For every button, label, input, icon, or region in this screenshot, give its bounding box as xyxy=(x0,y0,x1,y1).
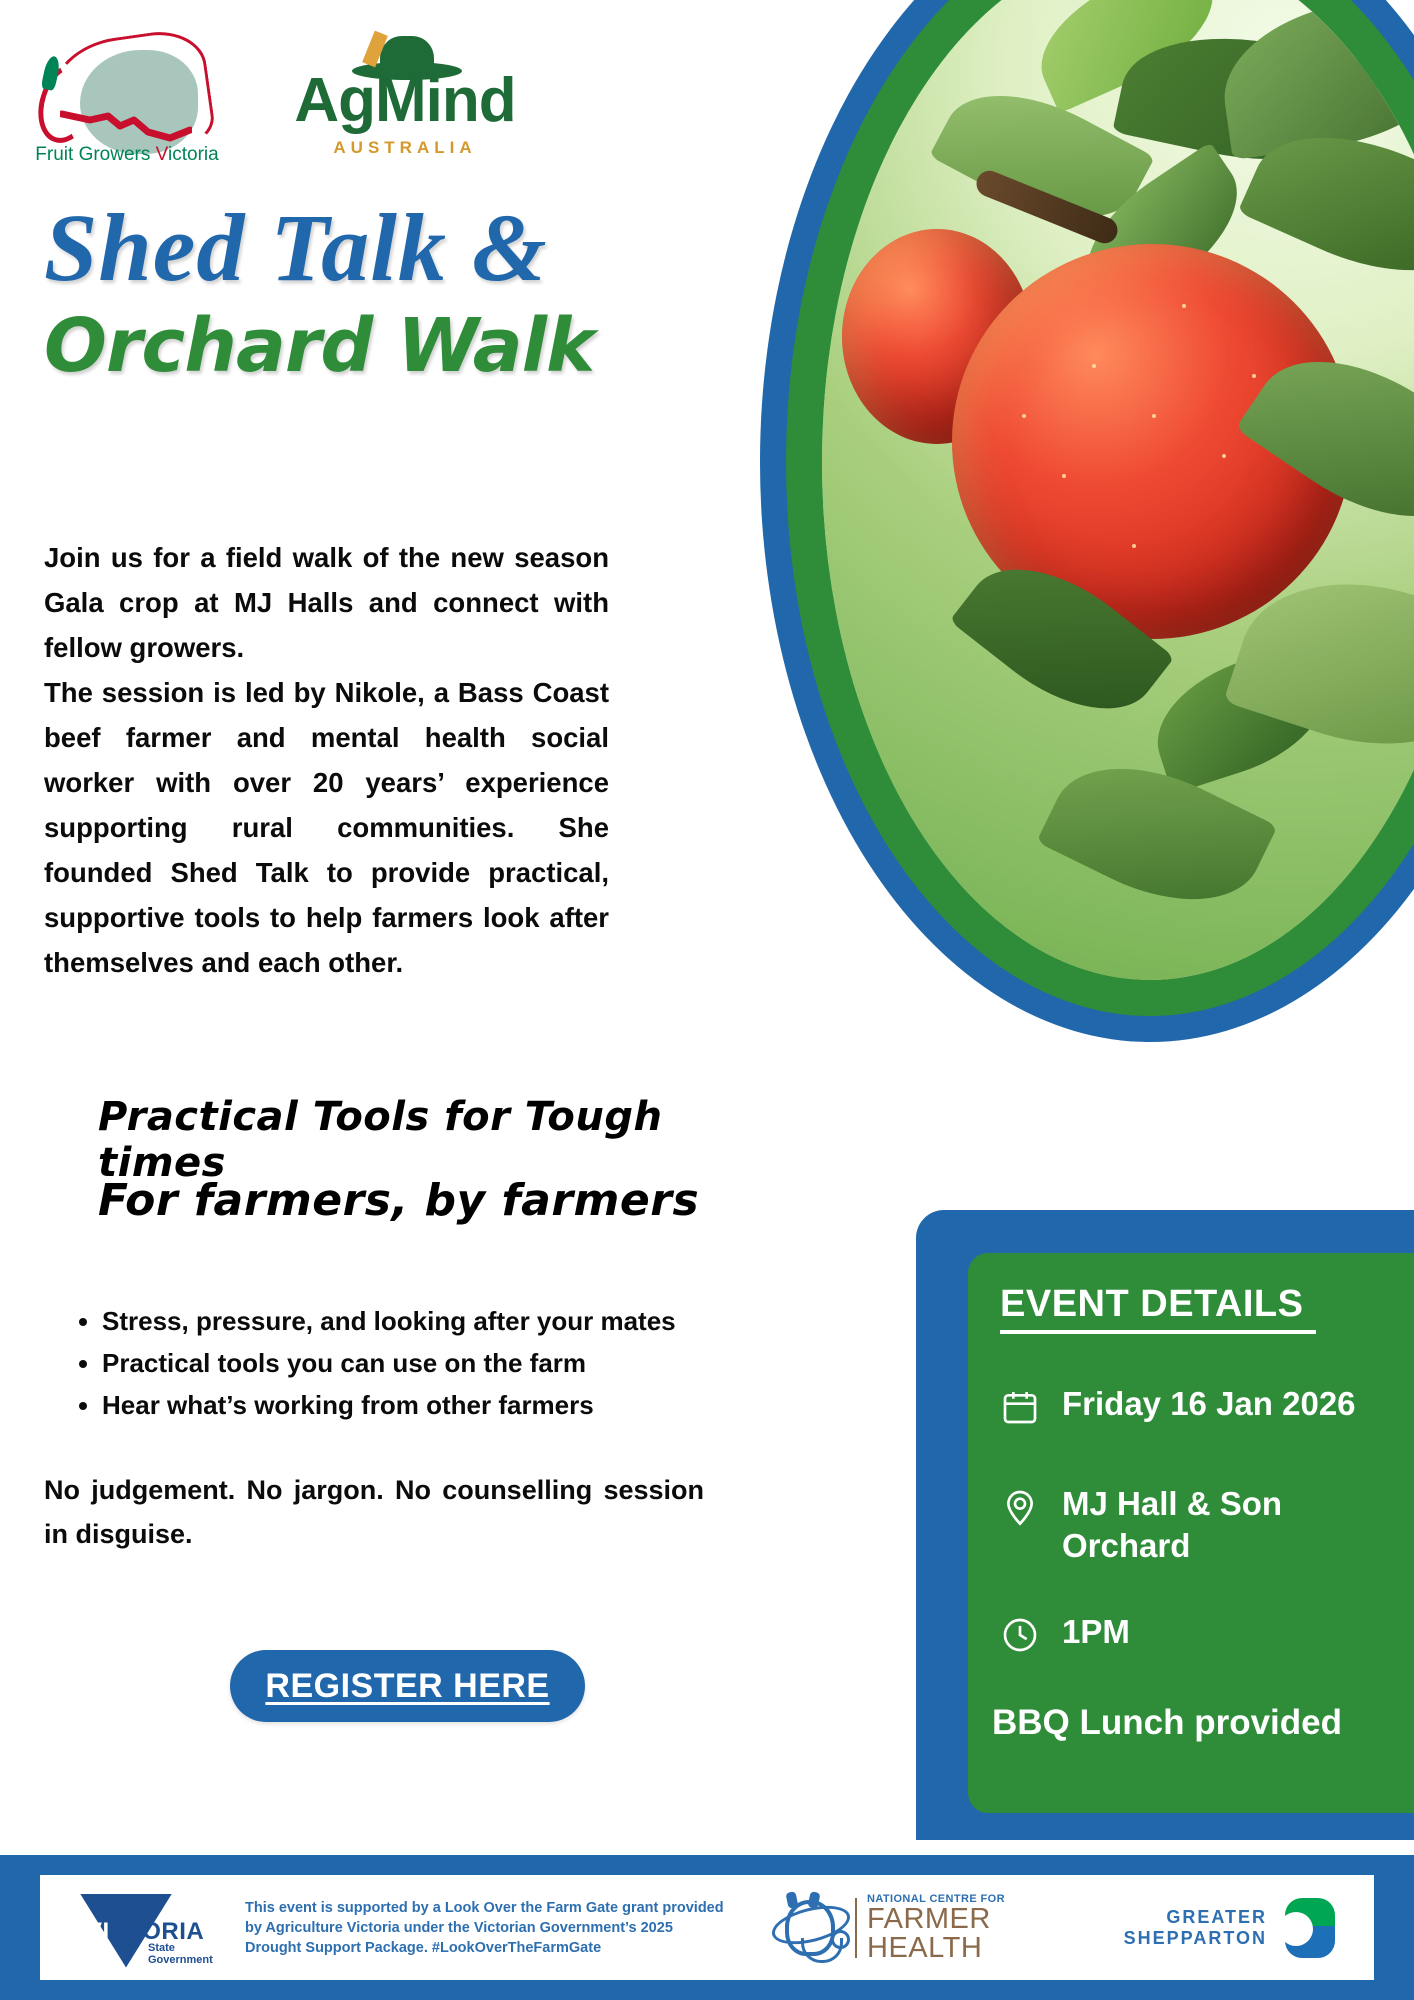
page-title-line2: Orchard Walk xyxy=(44,300,704,392)
stethoscope-bell-icon xyxy=(831,1930,850,1949)
script-heading-2: For farmers, by farmers xyxy=(98,1175,738,1227)
greater-shepparton-logo: GREATER SHEPPARTON xyxy=(1071,1892,1341,1964)
gs-line2: SHEPPARTON xyxy=(1071,1928,1267,1949)
event-time-row: 1PM xyxy=(1000,1611,1130,1655)
register-button-label: REGISTER HERE xyxy=(265,1667,549,1706)
gs-line1: GREATER xyxy=(1071,1907,1267,1928)
victoria-wordmark-text: CTORIA xyxy=(110,1918,205,1945)
event-details-panel: EVENT DETAILS Friday 16 Jan 2026 MJ Hall xyxy=(968,1253,1414,1813)
location-pin-icon xyxy=(1000,1487,1040,1527)
list-item: Practical tools you can use on the farm xyxy=(102,1342,742,1384)
event-date-value: Friday 16 Jan 2026 xyxy=(1062,1383,1356,1425)
swirl-cutout-shape xyxy=(1279,1912,1313,1946)
victoria-sub-line2: Government xyxy=(148,1954,213,1966)
script-heading-1: Practical Tools for Tough times xyxy=(98,1094,738,1186)
agmind-subtitle: AUSTRALIA xyxy=(280,138,530,158)
intro-paragraphs: Join us for a field walk of the new seas… xyxy=(44,535,609,985)
greater-shepparton-swirl-icon xyxy=(1277,1896,1341,1960)
clock-icon xyxy=(1000,1615,1040,1655)
victoria-state-government-logo: VICTORIA State Government xyxy=(62,1888,227,1968)
greater-shepparton-wordmark: GREATER SHEPPARTON xyxy=(1071,1907,1267,1949)
page-title-line1: Shed Talk & xyxy=(44,196,704,300)
fgv-river-icon xyxy=(60,110,192,144)
event-extra-note: BBQ Lunch provided xyxy=(992,1703,1342,1743)
intro-paragraph-1: Join us for a field walk of the new seas… xyxy=(44,535,609,670)
fgv-text-part2: ictoria xyxy=(168,144,219,165)
agmind-wordmark: AgMind xyxy=(280,70,530,132)
grant-support-text: This event is supported by a Look Over t… xyxy=(245,1898,725,1958)
topics-list: Stress, pressure, and looking after your… xyxy=(62,1300,742,1426)
fgv-logo-text: Fruit Growers Victoria xyxy=(22,144,232,166)
agmind-australia-logo: AgMind AUSTRALIA xyxy=(280,30,530,170)
register-here-button[interactable]: REGISTER HERE xyxy=(230,1650,585,1722)
ncfh-line1: FARMER xyxy=(867,1905,1031,1934)
tagline-text: No judgement. No jargon. No counselling … xyxy=(44,1468,704,1556)
victoria-sub-line1: State xyxy=(148,1942,213,1954)
apple-orchard-photo xyxy=(822,0,1414,980)
victoria-subtitle: State Government xyxy=(148,1942,213,1966)
event-details-title: EVENT DETAILS xyxy=(1000,1283,1316,1334)
fgv-text-part1: Fruit Growers xyxy=(35,144,155,165)
fruit-growers-victoria-logo: Fruit Growers Victoria xyxy=(22,28,232,168)
hero-circle-graphic xyxy=(760,0,1414,1042)
hat-crown-shape xyxy=(380,36,434,68)
event-date-row: Friday 16 Jan 2026 xyxy=(1000,1383,1356,1427)
list-item: Stress, pressure, and looking after your… xyxy=(102,1300,742,1342)
calendar-icon xyxy=(1000,1387,1040,1427)
national-centre-farmer-health-logo: NATIONAL CENTRE FOR FARMER HEALTH xyxy=(771,1889,1031,1967)
event-location-value: MJ Hall & Son Orchard xyxy=(1062,1483,1362,1567)
poster-canvas: Fruit Growers Victoria AgMind AUSTRALIA … xyxy=(0,0,1414,2000)
logo-divider xyxy=(855,1898,857,1958)
intro-paragraph-2: The session is led by Nikole, a Bass Coa… xyxy=(44,670,609,985)
partner-logos-header: Fruit Growers Victoria AgMind AUSTRALIA xyxy=(0,18,700,168)
fgv-text-v: V xyxy=(156,144,168,165)
event-time-value: 1PM xyxy=(1062,1611,1130,1653)
ncfh-line2: HEALTH xyxy=(867,1934,1031,1963)
farmer-health-mark-icon xyxy=(771,1894,845,1962)
footer-logo-strip: VICTORIA State Government This event is … xyxy=(40,1875,1374,1980)
farmer-health-wordmark: NATIONAL CENTRE FOR FARMER HEALTH xyxy=(867,1893,1031,1963)
list-item: Hear what’s working from other farmers xyxy=(102,1384,742,1426)
event-location-row: MJ Hall & Son Orchard xyxy=(1000,1483,1362,1567)
